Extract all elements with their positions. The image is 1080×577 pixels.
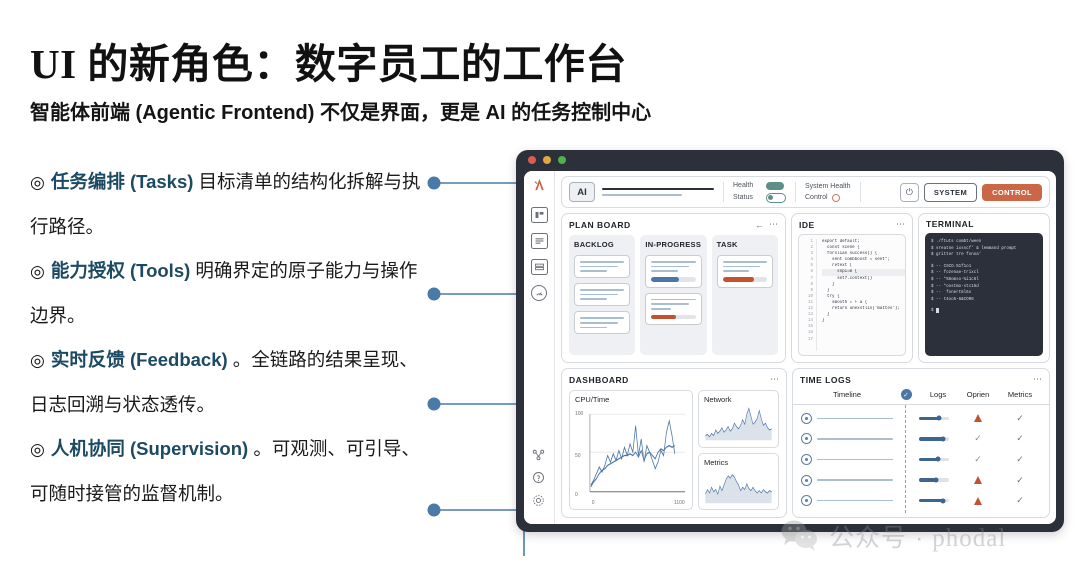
panel-title: IDE [799, 220, 815, 230]
target-icon [801, 433, 812, 444]
check-icon: ✓ [1016, 455, 1024, 464]
card-line [580, 266, 618, 268]
panel-plan-board: PLAN BOARD ← ⋯ BACKLOG [561, 213, 786, 363]
panel-row-top: PLAN BOARD ← ⋯ BACKLOG [561, 213, 1050, 363]
kanban-card[interactable] [574, 283, 630, 306]
card-line [723, 270, 750, 272]
health-toggle[interactable] [766, 182, 784, 190]
panel-row-bottom: DASHBOARD ⋯ CPU/Time 100 50 0 0 [561, 368, 1050, 518]
row-oprien-status: ✓ [957, 434, 999, 443]
row-metrics-status: ✓ [999, 476, 1041, 485]
row-metrics-status: ✓ [999, 434, 1041, 443]
dashboard-charts: CPU/Time 100 50 0 0 1100 [562, 388, 786, 517]
code-lines: export default; const scene { forslian s… [816, 239, 905, 351]
page-subtitle: 智能体前端 (Agentic Frontend) 不仅是界面，更是 AI 的任务… [30, 96, 651, 125]
column-header-logs: Logs [919, 390, 957, 399]
row-logs-slider[interactable] [919, 478, 957, 482]
settings-icon[interactable] [532, 494, 546, 508]
sidebar-item-board[interactable] [531, 207, 548, 223]
terminal-cursor [936, 308, 939, 312]
system-health-group: System Health Control [805, 183, 851, 202]
target-icon [801, 454, 812, 465]
app-logo-icon [532, 177, 547, 195]
chart-plot-area [704, 469, 773, 506]
chart-svg [575, 406, 687, 505]
column-header-oprien: Oprien [957, 390, 999, 399]
sidebar-item-gauge[interactable] [531, 285, 547, 301]
chart-metrics: Metrics [698, 453, 779, 511]
logs-table-body: ✓ ✓ ✓ [793, 405, 1049, 517]
toggle-label-health: Health [733, 182, 759, 189]
panel-header: TIME LOGS ⋯ [793, 369, 1049, 388]
divider [905, 405, 906, 513]
bullet-keyword: 任务编排 (Tasks) [51, 171, 194, 192]
target-icon [801, 413, 812, 424]
row-timeline [801, 495, 893, 506]
check-icon: ✓ [1016, 496, 1024, 505]
header-line-primary [602, 188, 714, 190]
check-icon: ✓ [1016, 414, 1024, 423]
chart-network: Network [698, 390, 779, 448]
divider [795, 182, 796, 202]
column-header-metrics: Metrics [999, 390, 1041, 399]
terminal-line: $ -- t4oo5-6&COR6 [931, 297, 1037, 304]
row-oprien-status: ✓ [957, 455, 999, 464]
terminal-output[interactable]: $ ./ftuts combt/ween $ sreatne ixsscf' &… [925, 233, 1043, 356]
terminal-line: $ ./ftuts combt/ween [931, 239, 1037, 246]
kanban-card[interactable] [645, 255, 701, 288]
card-line [580, 294, 618, 296]
more-icon[interactable]: ⋯ [770, 374, 779, 385]
sidebar-item-list[interactable] [531, 233, 548, 249]
row-logs-slider[interactable] [919, 499, 957, 503]
card-progress-bar [723, 277, 767, 282]
warning-icon [974, 476, 982, 484]
terminal-line: $ -- *%8omso-%i1c6l [931, 277, 1037, 284]
back-arrow-icon[interactable]: ← [755, 220, 764, 230]
chart-plot-area: 100 50 0 0 1100 [575, 406, 687, 505]
bullet-marker-icon: ◎ [30, 173, 45, 192]
column-title: TASK [717, 240, 773, 249]
page-title: UI 的新角色：数字员工的工作台 [30, 30, 627, 90]
list-item: ◎任务编排 (Tasks) 目标清单的结构化拆解与执行路径。 [30, 160, 430, 249]
panel-time-logs: TIME LOGS ⋯ Timeline ✓ Logs Oprien Metri… [792, 368, 1050, 518]
card-progress-bar [651, 277, 695, 282]
card-line [651, 261, 695, 263]
column-header-timeline: Timeline [801, 390, 893, 399]
card-line [651, 299, 695, 301]
card-line [580, 289, 624, 291]
terminal-prompt: $ [931, 308, 1037, 315]
more-icon[interactable]: ⋯ [769, 219, 778, 230]
terminal-line: $ -- CSCO.%1f1o1 [931, 264, 1037, 271]
timeline-bar [817, 459, 893, 461]
card-line [723, 266, 761, 268]
kanban-column-backlog: BACKLOG [569, 235, 635, 355]
panel-title: TIME LOGS [800, 375, 851, 385]
row-oprien-status [957, 497, 999, 505]
slide-root: UI 的新角色：数字员工的工作台 智能体前端 (Agentic Frontend… [0, 0, 1080, 577]
bullet-keyword: 实时反馈 (Feedback) [51, 349, 228, 370]
card-progress-bar [651, 315, 695, 320]
kanban-card[interactable] [574, 311, 630, 334]
bullet-marker-icon: ◎ [30, 440, 45, 459]
chart-svg [704, 469, 773, 506]
table-row[interactable]: ✓ ✓ [801, 433, 1041, 444]
row-metrics-status: ✓ [999, 414, 1041, 423]
row-timeline [801, 454, 893, 465]
logs-table-header: Timeline ✓ Logs Oprien Metrics [793, 388, 1049, 405]
target-icon [801, 475, 812, 486]
kanban-card[interactable] [717, 255, 773, 288]
row-logs-slider[interactable] [919, 458, 957, 462]
card-line [651, 270, 678, 272]
header-actions: ⏻ SYSTEM CONTROL [900, 183, 1042, 202]
divider [860, 182, 861, 202]
bullet-keyword: 人机协同 (Supervision) [51, 438, 248, 459]
terminal-line: $ -- *oostmo-stc16d [931, 284, 1037, 291]
terminal-line: $ sreatne ixsscf' & lemmand prompt [931, 246, 1037, 253]
sidebar [524, 171, 555, 524]
column-title: BACKLOG [574, 240, 630, 249]
line-number-gutter: 1 2 3 4 5 6 7 8 9 10 11 [799, 239, 816, 351]
table-row[interactable]: ✓ [801, 475, 1041, 486]
row-timeline [801, 433, 893, 444]
target-icon [801, 495, 812, 506]
timeline-bar [817, 418, 893, 420]
chart-cpu-time: CPU/Time 100 50 0 0 1100 [569, 390, 693, 510]
more-icon[interactable]: ⋯ [1033, 374, 1042, 385]
row-timeline [801, 413, 893, 424]
power-icon[interactable]: ⏻ [900, 183, 919, 202]
chart-title: Metrics [704, 458, 773, 467]
divider [723, 182, 724, 202]
header-placeholder-lines [602, 188, 714, 196]
check-icon: ✓ [974, 455, 982, 464]
toggle-group: Health Status [733, 182, 786, 203]
warning-icon [974, 497, 982, 505]
window-viewport: AI Health Status [524, 171, 1056, 524]
bullet-keyword: 能力授权 (Tools) [51, 260, 190, 281]
row-logs-slider[interactable] [919, 437, 957, 441]
toggle-row-health: Health [733, 182, 786, 190]
row-oprien-status [957, 414, 999, 422]
list-item: ◎人机协同 (Supervision) 。可观测、可引导、可随时接管的监督机制。 [30, 427, 430, 516]
kanban-board: BACKLOG [562, 233, 785, 362]
more-icon[interactable]: ⋯ [896, 219, 905, 230]
panel-header: PLAN BOARD ← ⋯ [562, 214, 785, 233]
check-circle-icon[interactable]: ✓ [901, 389, 912, 400]
panel-header: DASHBOARD ⋯ [562, 369, 786, 388]
check-icon: ✓ [1016, 434, 1024, 443]
card-line [580, 298, 607, 300]
toggle-row-status: Status [733, 193, 786, 203]
panel-title: PLAN BOARD [569, 220, 631, 230]
chart-title: Network [704, 395, 773, 404]
table-row[interactable]: ✓ [801, 413, 1041, 424]
control-gear-icon[interactable] [832, 194, 840, 202]
column-header-check: ✓ [893, 389, 919, 400]
row-logs-slider[interactable] [919, 417, 957, 421]
main-canvas: AI Health Status [555, 171, 1056, 524]
bullet-marker-icon: ◎ [30, 262, 45, 281]
check-icon: ✓ [1016, 476, 1024, 485]
sidebar-item-stack[interactable] [531, 259, 548, 275]
list-item: ◎能力授权 (Tools) 明确界定的原子能力与操作边界。 [30, 249, 430, 338]
dashboard-mini-charts: Network Metrics [698, 390, 779, 510]
panel-title: TERMINAL [926, 219, 974, 229]
panel-terminal: TERMINAL $ ./ftuts combt/ween $ sreatne … [918, 213, 1050, 363]
column-title: IN-PROGRESS [645, 240, 701, 249]
code-line: } [822, 318, 905, 324]
card-line [651, 266, 689, 268]
kanban-column-task: TASK [712, 235, 778, 355]
card-line [580, 322, 618, 324]
panel-ide: IDE ⋯ 1 2 3 4 5 6 7 [791, 213, 913, 363]
code-editor[interactable]: 1 2 3 4 5 6 7 8 9 10 11 [798, 234, 906, 356]
status-toggle[interactable] [766, 193, 786, 203]
control-row: Control [805, 194, 851, 202]
header-line-secondary [602, 194, 682, 196]
ai-chip[interactable]: AI [569, 182, 595, 202]
card-line [580, 270, 607, 272]
panel-header: IDE ⋯ [792, 214, 912, 233]
table-row[interactable]: ✓ [801, 495, 1041, 506]
system-health-label: System Health [805, 183, 851, 190]
row-timeline [801, 475, 893, 486]
terminal-line: $ -- fonert8l6o [931, 290, 1037, 297]
system-button[interactable]: SYSTEM [924, 183, 977, 202]
card-line [580, 261, 624, 263]
panel-dashboard: DASHBOARD ⋯ CPU/Time 100 50 0 0 [561, 368, 787, 518]
control-button[interactable]: CONTROL [982, 184, 1042, 201]
row-metrics-status: ✓ [999, 455, 1041, 464]
app-window: AI Health Status [516, 150, 1064, 532]
panel-header: TERMINAL [919, 214, 1049, 232]
timeline-bar [817, 500, 893, 502]
terminal-line: $ -- fozenae-trixcl [931, 270, 1037, 277]
warning-icon [974, 414, 982, 422]
row-metrics-status: ✓ [999, 496, 1041, 505]
card-line [580, 327, 607, 329]
window-titlebar [516, 150, 1064, 169]
kanban-card[interactable] [574, 255, 630, 278]
row-oprien-status [957, 476, 999, 484]
card-line [723, 261, 767, 263]
chart-plot-area [704, 406, 773, 443]
help-icon[interactable] [532, 471, 546, 485]
bullet-marker-icon: ◎ [30, 351, 45, 370]
table-row[interactable]: ✓ ✓ [801, 454, 1041, 465]
maximize-icon[interactable] [558, 156, 566, 164]
bullet-list: ◎任务编排 (Tasks) 目标清单的结构化拆解与执行路径。 ◎能力授权 (To… [30, 160, 430, 516]
list-item: ◎实时反馈 (Feedback) 。全链路的结果呈现、日志回溯与状态透传。 [30, 338, 430, 427]
minimize-icon[interactable] [543, 156, 551, 164]
timeline-bar [817, 438, 893, 440]
kanban-column-in-progress: IN-PROGRESS [640, 235, 706, 355]
check-icon: ✓ [974, 434, 982, 443]
card-line [651, 308, 671, 310]
card-line [651, 303, 689, 305]
app-header: AI Health Status [561, 176, 1050, 208]
timeline-bar [817, 479, 893, 481]
control-label: Control [805, 194, 828, 201]
terminal-line: $ gritter tre fonoa' [931, 252, 1037, 259]
close-icon[interactable] [528, 156, 536, 164]
card-line [580, 317, 624, 319]
panel-title: DASHBOARD [569, 375, 629, 385]
branch-icon[interactable] [532, 448, 546, 462]
toggle-label-status: Status [733, 194, 759, 201]
line-number: 17 [808, 337, 813, 343]
chart-title: CPU/Time [575, 395, 687, 404]
chart-svg [704, 406, 773, 443]
panel-actions: ← ⋯ [755, 219, 778, 230]
kanban-card[interactable] [645, 293, 701, 326]
